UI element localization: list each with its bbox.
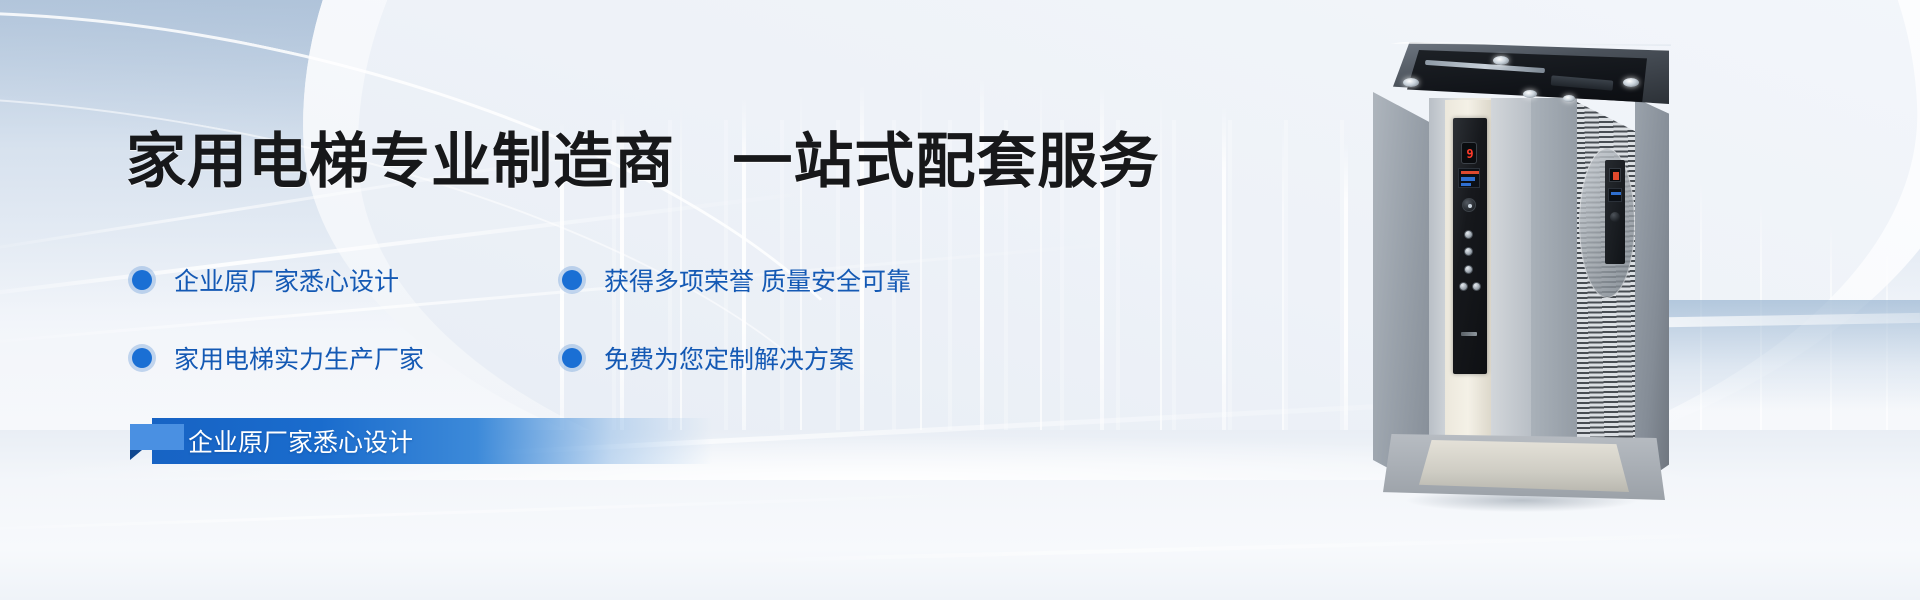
bullet-dot-icon xyxy=(132,270,152,290)
feature-item-4: 免费为您定制解决方案 xyxy=(562,340,992,376)
feature-label: 家用电梯实力生产厂家 xyxy=(174,340,424,376)
feature-label: 获得多项荣誉 质量安全可靠 xyxy=(604,262,911,298)
feature-list: 企业原厂家悉心设计 获得多项荣誉 质量安全可靠 家用电梯实力生产厂家 免费为您定… xyxy=(132,262,1132,376)
feature-item-2: 获得多项荣誉 质量安全可靠 xyxy=(562,262,992,298)
feature-item-1: 企业原厂家悉心设计 xyxy=(132,262,562,298)
page-title: 家用电梯专业制造商 一站式配套服务 xyxy=(126,132,1159,192)
bullet-dot-icon xyxy=(132,348,152,368)
feature-label: 免费为您定制解决方案 xyxy=(604,340,854,376)
ribbon-tab-icon xyxy=(130,424,184,450)
banner-stage: 9 家用电梯专业制造商 xyxy=(0,0,1920,600)
feature-item-3: 家用电梯实力生产厂家 xyxy=(132,340,562,376)
headline-part-1: 家用电梯专业制造商 xyxy=(126,128,675,195)
bullet-dot-icon xyxy=(562,270,582,290)
highlight-ribbon[interactable]: 企业原厂家悉心设计 xyxy=(130,418,830,464)
headline-part-2: 一站式配套服务 xyxy=(732,128,1159,195)
bullet-dot-icon xyxy=(562,348,582,368)
feature-label: 企业原厂家悉心设计 xyxy=(174,262,399,298)
ribbon-label: 企业原厂家悉心设计 xyxy=(188,418,413,464)
banner-content: 家用电梯专业制造商 一站式配套服务 企业原厂家悉心设计 获得多项荣誉 质量安全可… xyxy=(0,0,1920,600)
